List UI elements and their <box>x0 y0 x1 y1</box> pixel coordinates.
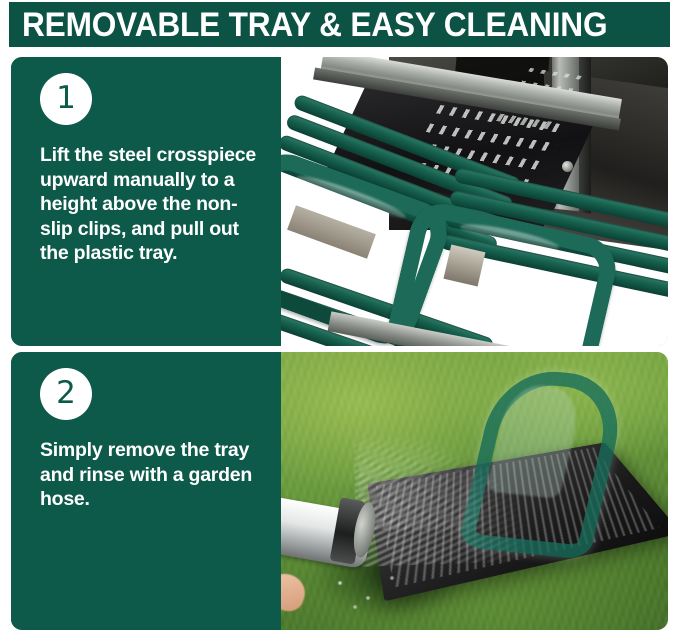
step-2-number: 2 <box>56 378 76 409</box>
step-2-number-badge: 2 <box>40 368 92 420</box>
step-2-instruction-text: Simply remove the tray and rinse with a … <box>40 438 271 512</box>
tray-removal-photo <box>281 57 668 346</box>
step-card-1: 1 Lift the steel crosspiece upward manua… <box>11 57 668 346</box>
step-1-instruction-text: Lift the steel crosspiece upward manuall… <box>40 143 271 266</box>
step-1-photo <box>281 57 668 346</box>
step-1-number: 1 <box>56 83 76 114</box>
step-card-2: 2 Simply remove the tray and rinse with … <box>11 352 668 630</box>
step-2-text-pane: 2 Simply remove the tray and rinse with … <box>11 352 281 630</box>
step-1-text-pane: 1 Lift the steel crosspiece upward manua… <box>11 57 281 346</box>
step-2-photo <box>281 352 668 630</box>
step-1-number-badge: 1 <box>40 73 92 125</box>
header-banner: REMOVABLE TRAY & EASY CLEANING <box>9 2 670 47</box>
water-droplets <box>320 563 421 613</box>
page-title: REMOVABLE TRAY & EASY CLEANING <box>9 8 607 42</box>
hose-rinsing-photo <box>281 352 668 630</box>
bolt-shape <box>562 161 573 172</box>
water-spray-fan-upper <box>358 402 582 530</box>
